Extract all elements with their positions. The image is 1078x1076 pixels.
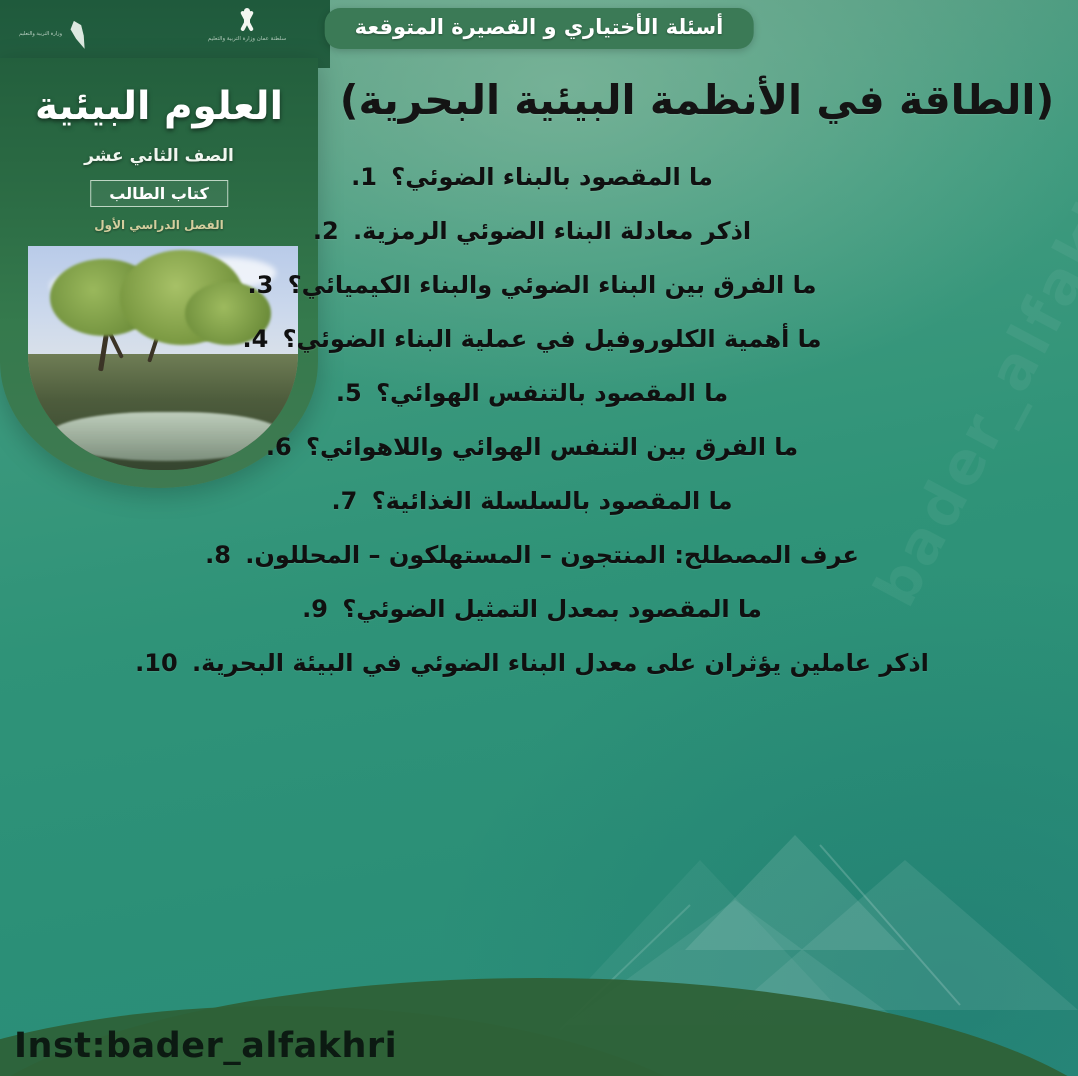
question-text: ما المقصود بمعدل التمثيل الضوئي؟ [342,595,762,623]
question-number: 9. [302,595,328,623]
question-item: ما الفرق بين التنفس الهوائي واللاهوائي؟ … [8,420,1056,474]
question-text: اذكر معادلة البناء الضوئي الرمزية. [353,217,751,245]
left-logo-label: وزارة التربية والتعليم [19,32,62,38]
question-number: 7. [332,487,358,515]
question-item: ما المقصود بالبناء الضوئي؟ 1. [8,150,1056,204]
question-number: 2. [313,217,339,245]
khanjar-icon [234,8,260,34]
book-title: العلوم البيئية [0,84,318,129]
header-badge: أسئلة الأختياري و القصيرة المتوقعة [325,8,754,49]
question-item: اذكر عاملين يؤثران على معدل البناء الضوئ… [8,636,1056,690]
poster-canvas: bader_alfakhri وزارة التربية والتعليم سل… [0,0,1078,1076]
question-text: ما أهمية الكلوروفيل في عملية البناء الضو… [283,325,822,353]
question-text: ما المقصود بالبناء الضوئي؟ [391,163,713,191]
header-badge-label: أسئلة الأختياري و القصيرة المتوقعة [355,15,724,39]
question-item: عرف المصطلح: المنتجون – المستهلكون – الم… [8,528,1056,582]
question-item: اذكر معادلة البناء الضوئي الرمزية. 2. [8,204,1056,258]
ministry-emblem-icon: وزارة التربية والتعليم [14,14,92,56]
question-item: ما المقصود بالسلسلة الغذائية؟ 7. [8,474,1056,528]
page-title: (الطاقة في الأنظمة البيئية البحرية) [330,76,1064,124]
question-text: عرف المصطلح: المنتجون – المستهلكون – الم… [245,541,859,569]
oman-khanjar-emblem-icon: سلطنة عمان وزارة التربية والتعليم [202,8,292,62]
question-number: 3. [248,271,274,299]
question-text: ما المقصود بالتنفس الهوائي؟ [376,379,728,407]
question-item: ما المقصود بمعدل التمثيل الضوئي؟ 9. [8,582,1056,636]
questions-list: ما المقصود بالبناء الضوئي؟ 1. اذكر معادل… [8,150,1056,1014]
question-item: ما الفرق بين البناء الضوئي والبناء الكيم… [8,258,1056,312]
instagram-handle: Inst:bader_alfakhri [14,1026,397,1066]
question-text: ما الفرق بين التنفس الهوائي واللاهوائي؟ [306,433,798,461]
question-text: ما الفرق بين البناء الضوئي والبناء الكيم… [288,271,817,299]
question-text: اذكر عاملين يؤثران على معدل البناء الضوئ… [192,649,929,677]
emblem-shape-icon [61,16,96,54]
question-item: ما المقصود بالتنفس الهوائي؟ 5. [8,366,1056,420]
question-number: 10. [135,649,178,677]
question-number: 6. [266,433,292,461]
question-item: ما أهمية الكلوروفيل في عملية البناء الضو… [8,312,1056,366]
question-number: 4. [242,325,268,353]
question-number: 1. [351,163,377,191]
question-number: 8. [205,541,231,569]
question-number: 5. [336,379,362,407]
question-text: ما المقصود بالسلسلة الغذائية؟ [372,487,733,515]
right-logo-label: سلطنة عمان وزارة التربية والتعليم [208,36,286,43]
